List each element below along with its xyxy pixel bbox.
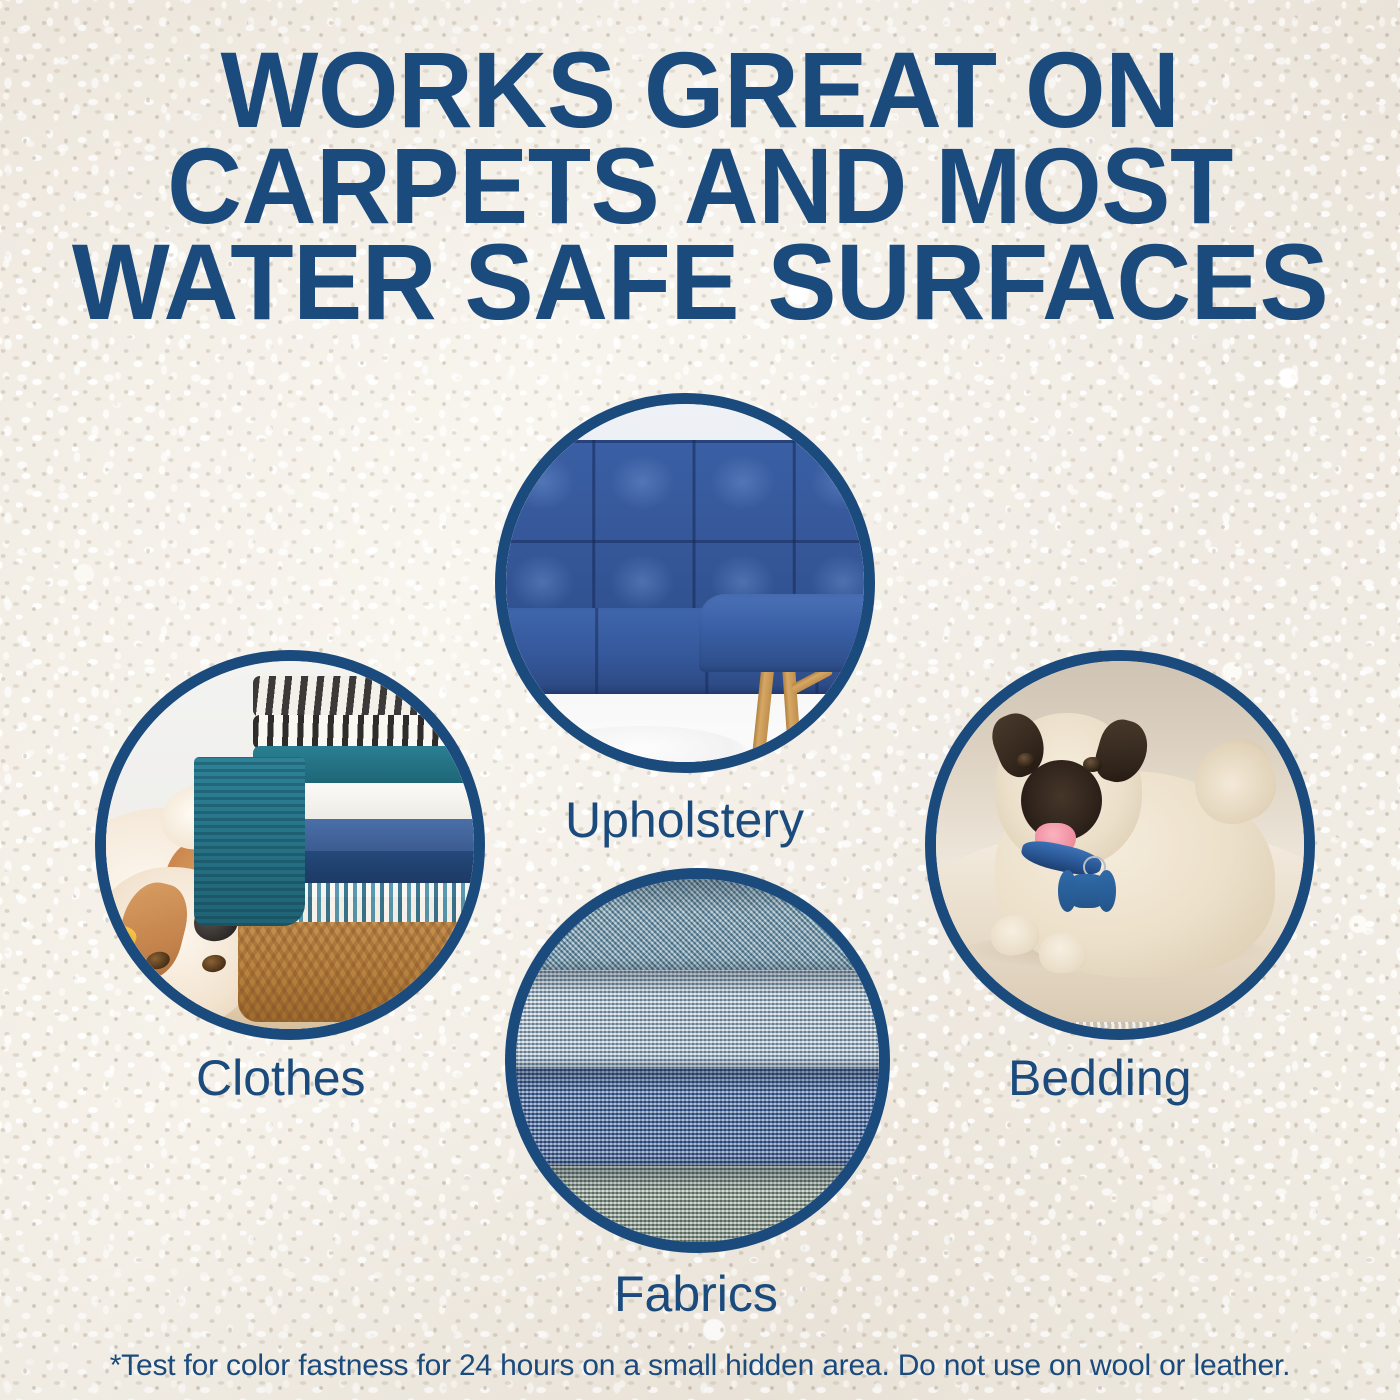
sofa-armrest <box>699 594 864 673</box>
surface-label-bedding: Bedding <box>1008 1050 1192 1106</box>
surface-circle-upholstery <box>495 393 875 773</box>
fabrics-fold-shadows <box>516 879 879 1242</box>
surface-circle-bedding <box>925 650 1315 1040</box>
folded-textile <box>253 676 474 717</box>
headline: WORKS GREAT ON CARPETS AND MOST WATER SA… <box>0 42 1400 330</box>
headline-line-1: WORKS GREAT ON <box>28 42 1372 138</box>
headline-line-2: CARPETS AND MOST <box>28 138 1372 234</box>
pug-eye <box>1083 757 1101 772</box>
headline-line-3: WATER SAFE SURFACES <box>28 234 1372 330</box>
clothes-image <box>106 661 474 1029</box>
fabrics-image <box>516 879 879 1242</box>
surface-label-clothes: Clothes <box>196 1050 366 1106</box>
surface-label-fabrics: Fabrics <box>614 1266 778 1322</box>
promo-poster: WORKS GREAT ON CARPETS AND MOST WATER SA… <box>0 0 1400 1400</box>
disclaimer-text: *Test for color fastness for 24 hours on… <box>0 1348 1400 1384</box>
clothes-knit-blanket <box>194 757 304 926</box>
pug-bone-tag <box>1065 874 1109 907</box>
surface-circle-clothes <box>95 650 485 1040</box>
surface-circle-fabrics <box>505 868 890 1253</box>
folded-textile <box>253 715 474 749</box>
upholstery-image <box>506 404 864 762</box>
surface-label-upholstery: Upholstery <box>565 792 804 848</box>
bedding-image <box>936 661 1304 1029</box>
